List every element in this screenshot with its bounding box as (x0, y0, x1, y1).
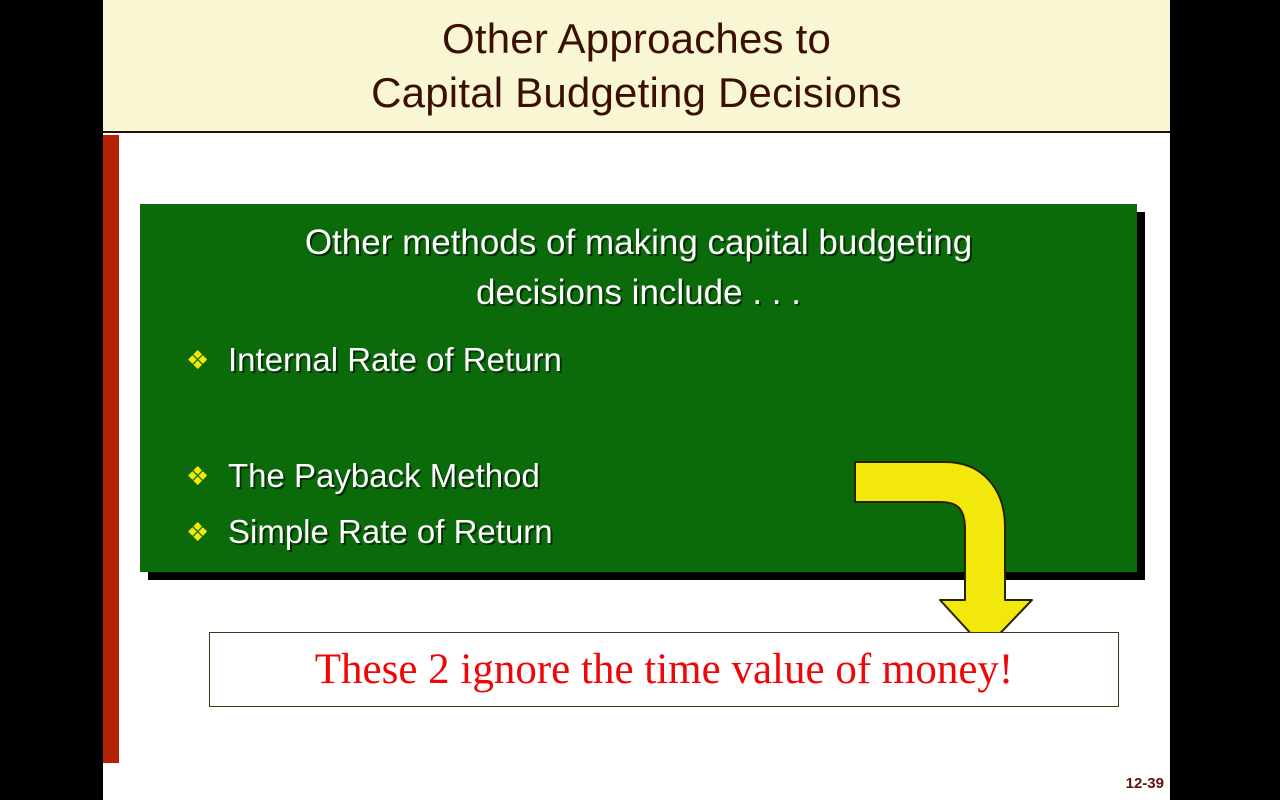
page-title-line-2: Capital Budgeting Decisions (371, 66, 902, 120)
slide-canvas: Other Approaches to Capital Budgeting De… (0, 0, 1280, 800)
list-item-internal-rate-of-return: ❖ Internal Rate of Return (158, 338, 1119, 382)
green-content-panel: Other methods of making capital budgetin… (140, 204, 1137, 572)
diamond-bullet-icon: ❖ (186, 338, 228, 382)
bullet-spacer (158, 382, 1119, 454)
list-item-payback-method: ❖ The Payback Method (158, 454, 1119, 498)
callout-text: These 2 ignore the time value of money! (315, 645, 1014, 695)
slide-title-band: Other Approaches to Capital Budgeting De… (103, 0, 1170, 133)
slide-page: Other Approaches to Capital Budgeting De… (103, 0, 1170, 800)
methods-bullet-list: ❖ Internal Rate of Return ❖ The Payback … (158, 338, 1119, 554)
list-item-label: Simple Rate of Return (228, 510, 553, 554)
list-item-simple-rate-of-return: ❖ Simple Rate of Return (158, 510, 1119, 554)
diamond-bullet-icon: ❖ (186, 454, 228, 498)
list-item-label: The Payback Method (228, 454, 540, 498)
panel-heading-line-2: decisions include . . . (158, 268, 1119, 318)
page-title-line-1: Other Approaches to (442, 12, 831, 66)
list-item-label: Internal Rate of Return (228, 338, 562, 382)
left-accent-bar (103, 135, 119, 763)
slide-number: 12-39 (1126, 775, 1164, 792)
panel-heading-line-1: Other methods of making capital budgetin… (158, 218, 1119, 268)
callout-box: These 2 ignore the time value of money! (209, 632, 1119, 707)
diamond-bullet-icon: ❖ (186, 510, 228, 554)
